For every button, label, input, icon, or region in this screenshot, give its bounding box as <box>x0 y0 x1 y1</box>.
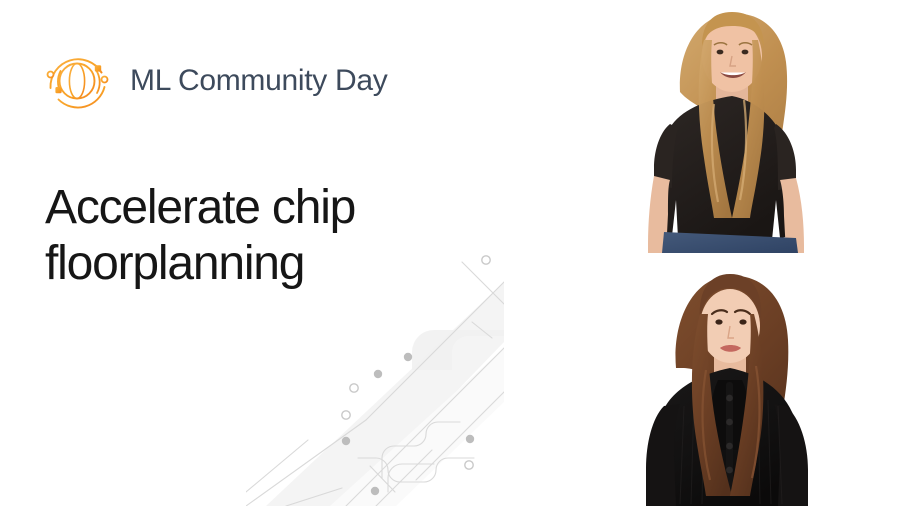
brand-title: ML Community Day <box>130 66 387 96</box>
presentation-slide: ML Community Day Accelerate chip floorpl… <box>0 0 900 506</box>
speaker-video-bottom[interactable] <box>620 256 900 506</box>
globe-orbit-icon <box>38 42 116 120</box>
circuit-trace-graphic <box>246 252 504 506</box>
speaker-video-top[interactable] <box>620 0 900 253</box>
brand-lockup: ML Community Day <box>38 42 387 120</box>
